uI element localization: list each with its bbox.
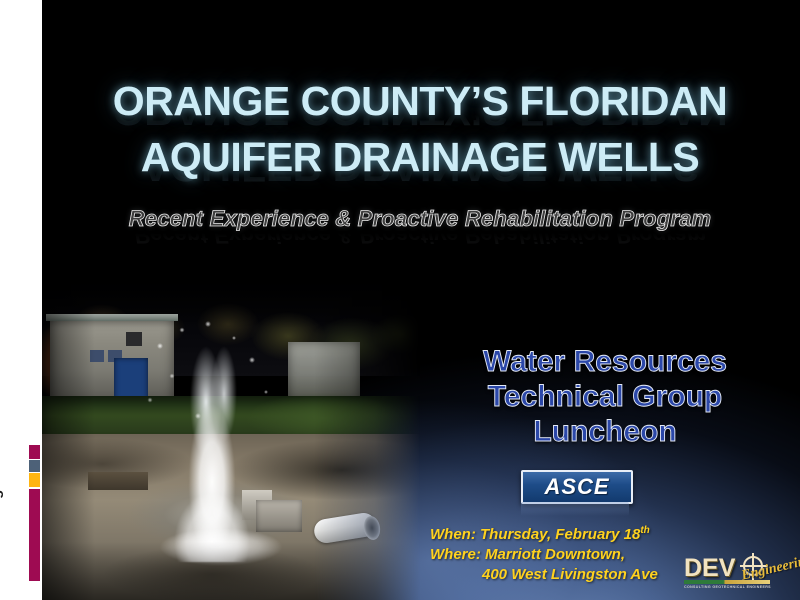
photo-content <box>42 276 420 600</box>
when-value: Thursday, February 18 <box>480 526 640 543</box>
event-details-when: When: Thursday, February 18th <box>430 521 760 545</box>
slide-title-reflection-2: AQUIFER DRAINAGE WELLS <box>60 168 780 190</box>
devo-engineering-logo: DEV Engineering CONSULTING GEOTECHNICAL … <box>684 552 788 594</box>
sidebar-bar-gold <box>29 473 40 487</box>
sidebar-bar-slate-blue <box>29 460 40 472</box>
where-label: Where: <box>430 545 481 565</box>
sidebar-vertical-title-wrap: ASCE WATER RESOURCES LUNCHEON 2010 <box>0 12 26 432</box>
asce-logo: ASCE <box>521 470 633 504</box>
slide-subtitle: Recent Experience & Proactive Rehabilita… <box>60 206 780 232</box>
event-heading-line-2: Technical Group <box>420 379 790 414</box>
well-photo <box>42 276 420 600</box>
event-heading-block: Water Resources Technical Group Luncheon <box>420 344 790 449</box>
devo-tagline: CONSULTING GEOTECHNICAL ENGINEERS <box>684 585 770 589</box>
presentation-slide: ORANGE COUNTY’S FLORIDAN ORANGE COUNTY’S… <box>0 0 800 600</box>
where-value: Marriott Downtown, <box>485 546 625 563</box>
when-ordinal-suffix: th <box>640 525 649 536</box>
asce-logo-text: ASCE <box>544 474 609 500</box>
slide-title-line-2: AQUIFER DRAINAGE WELLS <box>60 134 780 180</box>
devo-divider <box>684 580 770 584</box>
sidebar-website-link[interactable]: www.devoeng.com <box>0 455 4 590</box>
sidebar-bar-magenta-top <box>29 445 40 459</box>
slide-title-reflection-1: ORANGE COUNTY’S FLORIDAN <box>60 112 780 134</box>
asce-logo-reflection <box>521 502 629 516</box>
sidebar-bar-magenta-long <box>29 489 40 581</box>
slide-title-block: ORANGE COUNTY’S FLORIDAN ORANGE COUNTY’S… <box>60 78 780 190</box>
photo-vignette <box>42 276 420 600</box>
slide-title-line-1: ORANGE COUNTY’S FLORIDAN <box>60 78 780 124</box>
slide-subtitle-reflection: Recent Experience & Proactive Rehabilita… <box>60 232 780 248</box>
left-sidebar: ASCE WATER RESOURCES LUNCHEON 2010 www.d… <box>0 0 42 600</box>
devo-wordmark: DEV <box>684 554 735 583</box>
sidebar-website-wrap: www.devoeng.com <box>2 440 28 590</box>
when-label: When: <box>430 525 476 545</box>
event-heading-line-1: Water Resources <box>420 344 790 379</box>
event-heading-line-3: Luncheon <box>420 414 790 449</box>
